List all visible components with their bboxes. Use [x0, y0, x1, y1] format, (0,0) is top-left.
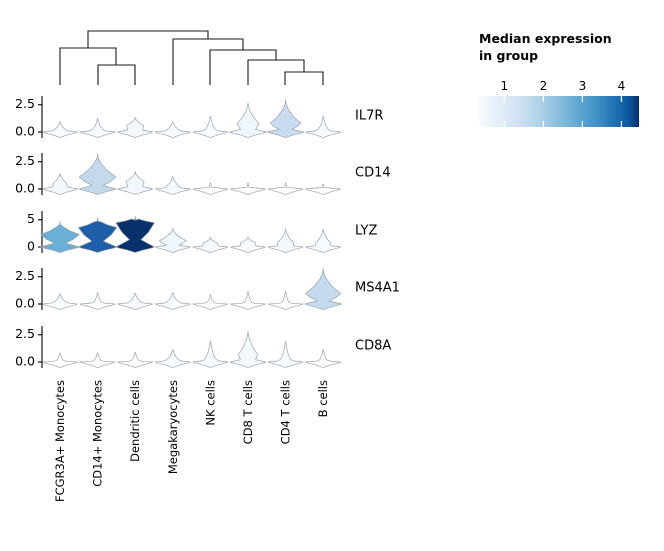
- violin-il7r-3: [155, 122, 190, 138]
- violin-cd14-5: [231, 183, 266, 195]
- violin-il7r-0: [43, 122, 78, 138]
- violin-lyz-4: [193, 237, 228, 252]
- dendrogram-link: [60, 48, 116, 85]
- gene-label: CD14: [355, 166, 391, 181]
- violin-il7r-7: [306, 116, 341, 137]
- gene-label: MS4A1: [355, 281, 400, 296]
- violin-il7r-5: [230, 103, 267, 138]
- violin-lyz-7: [306, 229, 341, 253]
- violin-il7r-4: [193, 116, 228, 137]
- violin-lyz-5: [231, 237, 266, 253]
- colorbar-tick-label: 3: [579, 79, 587, 93]
- violin-cd8a-1: [80, 353, 115, 368]
- colorbar-tick-label: 4: [618, 79, 626, 93]
- violin-lyz-0: [41, 222, 80, 253]
- category-label-3: Megakaryocytes: [166, 380, 180, 474]
- colorbar-tick-label: 1: [501, 79, 509, 93]
- violin-cd14-4: [193, 183, 228, 195]
- category-label-5: CD8 T cells: [241, 380, 255, 444]
- colorbar-gradient: [479, 96, 639, 127]
- y-tick-label: 0.0: [15, 124, 35, 139]
- violin-cd8a-4: [193, 341, 228, 368]
- violin-cd14-0: [43, 174, 78, 195]
- category-label-6: CD4 T cells: [279, 380, 293, 444]
- y-tick-label: 0.0: [15, 354, 35, 369]
- violin-ms4a1-1: [80, 293, 115, 310]
- y-tick-label: 0.0: [15, 296, 35, 311]
- violin-panels: 0.02.50.02.5050.02.50.02.5: [15, 96, 341, 369]
- dendrogram-link: [98, 65, 135, 85]
- violin-ms4a1-3: [155, 293, 190, 310]
- violin-cd8a-6: [268, 341, 303, 367]
- gene-labels: IL7RCD14LYZMS4A1CD8A: [355, 109, 400, 354]
- violin-cd8a-2: [118, 352, 153, 367]
- dendrogram-link: [285, 72, 323, 85]
- gene-label: CD8A: [355, 339, 391, 354]
- category-label-7: B cells: [316, 380, 330, 417]
- violin-cd14-1: [79, 154, 116, 195]
- colorbar-tick-label: 2: [540, 79, 548, 93]
- dendrogram-link: [173, 39, 243, 85]
- violin-ms4a1-6: [268, 291, 303, 309]
- y-tick-label: 0: [27, 239, 35, 254]
- y-tick-label: 2.5: [15, 326, 35, 341]
- violin-cd14-7: [306, 184, 341, 194]
- colorbar-legend: Median expression in group 1234: [479, 31, 639, 127]
- violin-ms4a1-7: [305, 269, 342, 310]
- violin-figure-root: 0.02.50.02.5050.02.50.02.5 IL7RCD14LYZMS…: [0, 0, 664, 551]
- legend-title-line2: in group: [479, 48, 538, 63]
- violin-row-lyz: 05: [27, 211, 341, 254]
- violin-il7r-6: [267, 100, 304, 138]
- violin-row-cd8a: 0.02.5: [15, 326, 341, 369]
- y-tick-label: 5: [27, 211, 35, 226]
- y-tick-label: 0.0: [15, 181, 35, 196]
- violin-lyz-2: [116, 216, 155, 252]
- violin-cd8a-7: [306, 349, 341, 367]
- violin-cd8a-0: [43, 353, 78, 368]
- violin-cd14-3: [155, 176, 190, 194]
- dendrogram: [60, 31, 323, 85]
- legend-title-line1: Median expression: [479, 31, 612, 46]
- violin-row-cd14: 0.02.5: [15, 153, 341, 196]
- violin-il7r-1: [80, 118, 115, 137]
- violin-ms4a1-2: [118, 293, 153, 309]
- stacked-violin-plot: 0.02.50.02.5050.02.50.02.5 IL7RCD14LYZMS…: [0, 0, 664, 551]
- violin-cd14-6: [268, 183, 303, 195]
- violin-row-ms4a1: 0.02.5: [15, 268, 341, 311]
- violin-cd8a-5: [230, 331, 266, 367]
- category-label-0: FCGR3A+ Monocytes: [53, 380, 67, 502]
- violin-lyz-3: [155, 228, 190, 252]
- violin-row-il7r: 0.02.5: [15, 96, 341, 139]
- violin-lyz-6: [268, 229, 303, 253]
- gene-label: IL7R: [355, 109, 383, 124]
- violin-ms4a1-4: [193, 295, 228, 310]
- category-label-2: Dendritic cells: [128, 380, 142, 462]
- y-tick-label: 2.5: [15, 268, 35, 283]
- dendrogram-link: [210, 50, 276, 85]
- violin-ms4a1-0: [43, 294, 78, 310]
- violin-ms4a1-5: [231, 291, 266, 309]
- y-tick-label: 2.5: [15, 96, 35, 111]
- category-label-1: CD14+ Monocytes: [91, 380, 105, 487]
- violin-il7r-2: [118, 117, 153, 137]
- category-labels: FCGR3A+ MonocytesCD14+ MonocytesDendriti…: [53, 380, 330, 502]
- gene-label: LYZ: [355, 224, 377, 239]
- violin-lyz-1: [78, 218, 117, 253]
- violin-cd8a-3: [155, 349, 190, 367]
- category-label-4: NK cells: [203, 380, 217, 426]
- y-tick-label: 2.5: [15, 153, 35, 168]
- violin-cd14-2: [118, 172, 153, 195]
